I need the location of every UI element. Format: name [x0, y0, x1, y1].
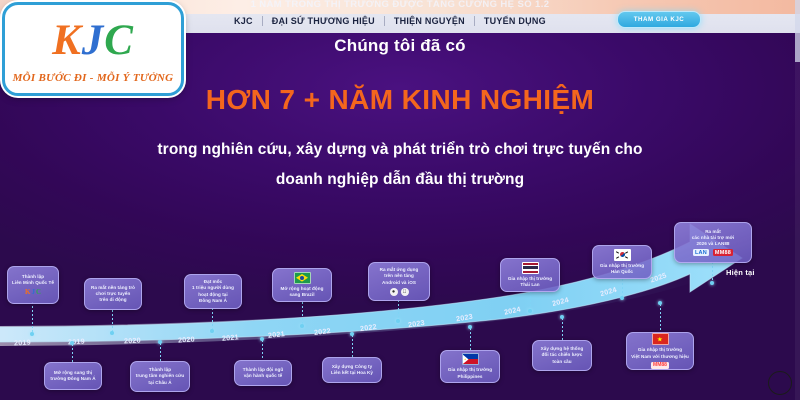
- milestone-text-m10-line2: Philippines: [457, 374, 482, 380]
- node-dot-m7: [300, 324, 304, 328]
- connector-m6: [262, 340, 263, 360]
- apple-icon: : [401, 288, 409, 296]
- os-icons-group: ● : [390, 288, 409, 296]
- page-stage: 1 NĂM TRONG THỊ TRƯỜNG ĐƯỢC TĂNG CƯỜNG H…: [0, 0, 800, 400]
- scrollbar-thumb[interactable]: [795, 0, 800, 62]
- android-icon: ●: [390, 288, 398, 296]
- connector-m4: [160, 343, 161, 361]
- milestone-text-m12-line3: toàn cầu: [552, 359, 571, 365]
- connector-m10: [470, 328, 471, 350]
- partner-logo-mm88: MM88: [713, 249, 733, 256]
- vertical-scrollbar[interactable]: [795, 0, 800, 400]
- milestone-text-m1-line2: Liên Minh Quốc Tế: [12, 280, 54, 286]
- circle-widget-icon[interactable]: [768, 371, 792, 395]
- connector-m1: [32, 302, 33, 334]
- year-label-2021-a: 2021: [222, 332, 240, 342]
- milestone-card-m10[interactable]: Gia nhập thị trường Philippines: [440, 350, 500, 383]
- milestone-text-m4-line3: tại Châu Á: [148, 380, 171, 386]
- milestone-text-m3-line3: trên di động: [99, 297, 126, 303]
- node-dot-m1: [30, 332, 34, 336]
- milestone-card-m14[interactable]: Gia nhập thị trường Việt Nam với thương …: [626, 332, 694, 370]
- partner-badge-mm88: MM88: [651, 362, 669, 369]
- flag-brazil-icon: [294, 272, 311, 284]
- node-dot-m5: [210, 329, 214, 333]
- partner-logo-lan: LAN: [693, 249, 709, 256]
- hero-eyebrow: Chúng tôi đã có: [0, 36, 800, 56]
- year-label-2020-b: 2020: [178, 334, 195, 344]
- nav-item-thien-nguyen[interactable]: THIỆN NGUYỆN: [384, 16, 474, 26]
- connector-m14: [660, 304, 661, 332]
- milestone-card-m11[interactable]: Gia nhập thị trường Thái Lan: [500, 258, 560, 292]
- hero-subtitle-line-1: trong nghiên cứu, xây dựng và phát triển…: [0, 141, 800, 159]
- node-dot-m9: [396, 319, 400, 323]
- node-dot-m15: [710, 281, 714, 285]
- year-label-2020-a: 2020: [124, 336, 141, 346]
- milestone-card-m13[interactable]: Gia nhập thị trường Hàn Quốc: [592, 245, 652, 279]
- milestone-text-m5-line4: Đông Nam Á: [199, 298, 227, 304]
- milestone-card-m15[interactable]: Ra mắt các nhà tài trợ mới 2026 và LAN88…: [674, 222, 752, 263]
- node-dot-m14: [658, 301, 662, 305]
- year-label-2019-a: 2019: [14, 338, 31, 348]
- milestone-text-m7-line2: sang Brazil: [289, 292, 314, 298]
- milestone-card-m2[interactable]: Mở rộng sang thị trường Đông Nam Á: [44, 362, 102, 390]
- year-label-2021-b: 2021: [268, 329, 286, 340]
- kjc-logo-icon: K J C: [25, 288, 41, 296]
- flag-vietnam-icon: [652, 333, 669, 345]
- milestone-card-m9[interactable]: Ra mắt ứng dụng trên nền tảng Android và…: [368, 262, 430, 301]
- node-dot-m6: [260, 337, 264, 341]
- hero-title: HƠN 7 + NĂM KINH NGHIỆM: [0, 84, 800, 116]
- milestone-card-m4[interactable]: Thành lập trung tâm nghiên cứu tại Châu …: [130, 361, 190, 392]
- present-label: Hiện tại: [726, 268, 755, 277]
- flag-thailand-icon: [522, 262, 539, 274]
- nav-item-dai-su-thuong-hieu[interactable]: ĐẠI SỨ THƯƠNG HIỆU: [262, 16, 384, 26]
- node-dot-m10: [468, 325, 472, 329]
- nav-item-tuyen-dung[interactable]: TUYỂN DỤNG: [474, 16, 555, 26]
- partner-logos-group: LAN MM88: [693, 249, 733, 256]
- connector-m12: [562, 318, 563, 340]
- connector-m2: [72, 344, 73, 362]
- hero-subtitle-line-2: doanh nghiệp dẫn đầu thị trường: [0, 171, 800, 189]
- node-dot-m3: [110, 331, 114, 335]
- milestone-text-m6-line2: vận hành quốc tế: [244, 373, 283, 379]
- milestone-text-m13-line2: Hàn Quốc: [611, 269, 633, 275]
- flag-philippines-icon: [462, 353, 479, 365]
- join-kjc-button[interactable]: THAM GIA KJC: [617, 11, 701, 28]
- milestone-card-m7[interactable]: Mở rộng hoạt động sang Brazil: [272, 268, 332, 302]
- node-dot-m4: [158, 340, 162, 344]
- connector-m8: [352, 335, 353, 357]
- logo-tagline: MỖI BƯỚC ĐI - MỖI Ý TƯỞNG: [13, 72, 174, 84]
- milestone-card-m1[interactable]: Thành lập Liên Minh Quốc Tế K J C: [7, 266, 59, 304]
- milestone-text-m15-line3: 2026 và LAN88: [696, 241, 729, 247]
- milestone-text-m9-line3: Android và iOS: [382, 280, 416, 286]
- node-dot-m8: [350, 332, 354, 336]
- node-dot-m12: [560, 315, 564, 319]
- milestone-card-m3[interactable]: Ra mắt nền tảng trò chơi trực tuyến trên…: [84, 278, 142, 310]
- main-navigation[interactable]: KJC ĐẠI SỨ THƯƠNG HIỆU THIỆN NGUYỆN TUYỂ…: [225, 16, 555, 26]
- node-dot-m13: [620, 296, 624, 300]
- node-dot-m11: [528, 309, 532, 313]
- flag-korea-icon: [614, 249, 631, 261]
- milestone-text-m11-line2: Thái Lan: [520, 282, 539, 288]
- milestone-card-m8[interactable]: Xây dựng Công ty Liên kết tại Hoa Kỳ: [322, 357, 382, 383]
- milestone-text-m8-line2: Liên kết tại Hoa Kỳ: [331, 370, 373, 376]
- milestone-card-m12[interactable]: Xây dựng hệ thống đối tác chiến lược toà…: [532, 340, 592, 371]
- node-dot-m2: [70, 341, 74, 345]
- milestone-card-m6[interactable]: Thành lập đội ngũ vận hành quốc tế: [234, 360, 292, 386]
- milestone-text-m2-line2: trường Đông Nam Á: [50, 376, 95, 382]
- nav-item-kjc[interactable]: KJC: [225, 16, 262, 26]
- milestone-card-m5[interactable]: Đạt mốc 1 triệu người dùng hoạt động tại…: [184, 274, 242, 309]
- milestone-text-m14-line2: Việt Nam với thương hiệu: [631, 354, 689, 360]
